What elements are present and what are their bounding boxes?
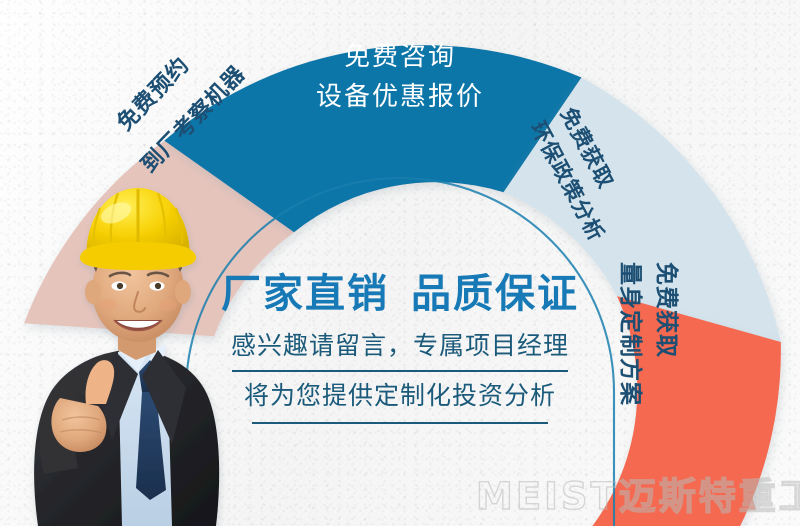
- subline-2: 将为您提供定制化投资分析: [204, 380, 596, 414]
- divider-2: [252, 422, 548, 424]
- segment-blue-line1: 免费咨询: [280, 36, 520, 76]
- segment-orange-line2: 量身定制方案: [617, 262, 644, 406]
- subline-1: 感兴趣请留言，专属项目经理: [204, 330, 596, 364]
- segment-orange-line1: 免费获取: [653, 262, 680, 358]
- center-copy-block: 厂家直销品质保证 感兴趣请留言，专属项目经理 将为您提供定制化投资分析: [204, 272, 596, 424]
- headline-right: 品质保证: [411, 272, 579, 316]
- divider-1: [232, 370, 568, 372]
- segment-blue-line2: 设备优惠报价: [280, 76, 520, 116]
- headline-left: 厂家直销: [221, 272, 389, 316]
- segment-blue-label: 免费咨询 设备优惠报价: [280, 36, 520, 117]
- banner-root: 免费预约 到厂考察机器 免费咨询 设备优惠报价 免费获取 环保政策分析 免费获取…: [0, 0, 800, 526]
- page-title: 厂家直销品质保证: [204, 272, 596, 316]
- brand-watermark: MEIST迈斯特重工: [476, 466, 800, 520]
